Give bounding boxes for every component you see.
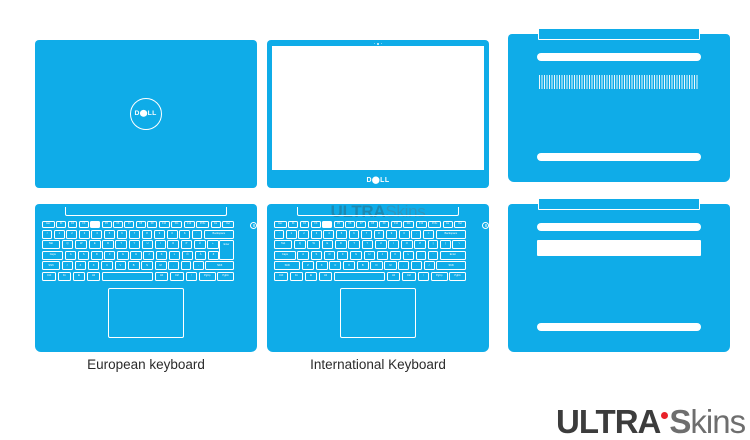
key-6[interactable]: 6 <box>117 230 128 239</box>
key-alt[interactable]: Alt <box>387 272 400 281</box>
key-space[interactable] <box>334 272 386 281</box>
key-c[interactable]: C <box>329 261 341 270</box>
key-1[interactable]: 1 <box>54 230 65 239</box>
key-4[interactable]: 4 <box>91 230 102 239</box>
key-0[interactable]: 0 <box>399 230 410 239</box>
key-a[interactable]: A <box>297 251 309 260</box>
key-tab[interactable]: Tab <box>42 240 60 249</box>
key-f3[interactable]: F3 <box>79 221 89 228</box>
key-ins[interactable]: Ins <box>443 221 453 228</box>
keyboard-row: `1234567890-=Backspace <box>274 230 466 239</box>
top-rubber-strip <box>537 53 701 61</box>
key-enter[interactable]: Enter <box>440 251 466 260</box>
key-8[interactable]: 8 <box>374 230 385 239</box>
screen-display-area <box>272 46 484 170</box>
key-f4[interactable]: F4 <box>322 221 332 228</box>
key-fn[interactable]: Fn <box>290 272 303 281</box>
key-space[interactable]: ↑ <box>186 272 198 281</box>
hinge-cutout <box>538 28 700 40</box>
key-f6[interactable]: F6 <box>113 221 123 228</box>
key-esc[interactable]: Esc <box>274 221 287 228</box>
key-f7[interactable]: F7 <box>356 221 366 228</box>
bottom-rubber-strip <box>537 323 701 331</box>
key-5[interactable]: 5 <box>336 230 347 239</box>
key-space[interactable]: ⊞ <box>73 272 85 281</box>
key-o[interactable]: O <box>401 240 413 249</box>
key-ctrl[interactable]: Ctrl <box>402 272 416 281</box>
product-illustration-stage: D⬤LL D⬤LL EscF1F2F3F4F5F6F7F8F9F10F11F12… <box>0 0 750 430</box>
key-space[interactable]: Ö <box>182 251 194 260</box>
key-h[interactable]: H <box>364 251 376 260</box>
key-f3[interactable]: F3 <box>311 221 321 228</box>
key-f10[interactable]: F10 <box>159 221 170 228</box>
key-f6[interactable]: F6 <box>345 221 355 228</box>
key-f2[interactable]: F2 <box>68 221 78 228</box>
key-v[interactable]: V <box>115 261 127 270</box>
key-t[interactable]: T <box>348 240 360 249</box>
key-ctrl[interactable]: Ctrl <box>170 272 184 281</box>
key-7[interactable]: 7 <box>129 230 140 239</box>
caption-international-keyboard: International Keyboard <box>267 357 489 372</box>
key-caps[interactable]: Caps <box>274 251 296 260</box>
key-u[interactable]: U <box>375 240 387 249</box>
key-space[interactable]: Ä <box>195 251 206 260</box>
keyboard-deck-european-panel[interactable]: EscF1F2F3F4F5F6F7F8F9F10F11F12PrtScInsDe… <box>35 204 257 352</box>
key-f9[interactable]: F9 <box>379 221 389 228</box>
webcam-sensor-icon <box>374 43 375 44</box>
key-space[interactable]: ' <box>428 251 438 260</box>
brand-text-ultra: ULTRA <box>556 403 660 440</box>
key-ctrl[interactable]: Ctrl <box>274 272 288 281</box>
key-y[interactable]: Y <box>129 240 141 249</box>
key-f1[interactable]: F1 <box>56 221 66 228</box>
key-f11[interactable]: F11 <box>171 221 182 228</box>
webcam-sensor-icon <box>381 43 382 44</box>
key-alt[interactable]: Alt <box>319 272 332 281</box>
key-p[interactable]: P <box>414 240 426 249</box>
key-b[interactable]: B <box>357 261 369 270</box>
keyboard-row: CtrlFn⊞AltAltCtrl↑PgUpPgDn <box>274 272 466 281</box>
key-space[interactable]: ` <box>274 230 284 239</box>
key-space[interactable]: [ <box>428 240 439 249</box>
dell-wordmark: D⬤LL <box>366 176 389 184</box>
key-prtsc[interactable]: PrtSc <box>428 221 441 228</box>
key-shift[interactable]: Shift <box>205 261 234 270</box>
key-shift[interactable]: Shift <box>436 261 466 270</box>
key-esc[interactable]: Esc <box>42 221 55 228</box>
key-c[interactable]: C <box>101 261 113 270</box>
key-o[interactable]: O <box>167 240 179 249</box>
key-space[interactable]: \ <box>452 240 466 249</box>
key-shift[interactable]: Shift <box>42 261 60 270</box>
key-x[interactable]: X <box>316 261 328 270</box>
key-ctrl[interactable]: Ctrl <box>42 272 56 281</box>
key-r[interactable]: R <box>335 240 347 249</box>
key-4[interactable]: 4 <box>323 230 334 239</box>
key-j[interactable]: J <box>143 251 154 260</box>
key-f11[interactable]: F11 <box>403 221 414 228</box>
bottom-cover-plain-skin-panel[interactable] <box>508 204 730 352</box>
key-2[interactable]: 2 <box>298 230 309 239</box>
key-q[interactable]: Q <box>62 240 74 249</box>
key-g[interactable]: G <box>117 251 129 260</box>
hinge-cutout <box>538 198 700 210</box>
key-space[interactable]: , <box>398 261 409 270</box>
keyboard-row: CapsASDFGHJKL;'Enter <box>274 251 466 260</box>
key-space[interactable]: / <box>424 261 435 270</box>
key-pgdn[interactable]: PgDn <box>217 272 234 281</box>
key-q[interactable]: Q <box>294 240 306 249</box>
keyboard-european[interactable]: EscF1F2F3F4F5F6F7F8F9F10F11F12PrtScInsDe… <box>42 221 234 281</box>
key-space[interactable]: Ü <box>194 240 206 249</box>
key-space[interactable]: ⊞ <box>305 272 317 281</box>
key-alt[interactable]: Alt <box>87 272 100 281</box>
key-7[interactable]: 7 <box>361 230 372 239</box>
key-enter[interactable]: Enter <box>219 240 234 260</box>
key-z[interactable]: Z <box>75 261 87 270</box>
key-f4[interactable]: F4 <box>90 221 100 228</box>
key-e[interactable]: E <box>89 240 101 249</box>
key-f12[interactable]: F12 <box>184 221 195 228</box>
key-tab[interactable]: Tab <box>274 240 292 249</box>
top-rubber-strip <box>537 223 701 231</box>
key-s[interactable]: S <box>78 251 89 260</box>
key-space[interactable]: < <box>62 261 73 270</box>
key-alt[interactable]: Alt <box>155 272 168 281</box>
keyboard-row: CapsASDFGHJKLÖÄ# <box>42 251 234 260</box>
keyboard-row: TabQWERTYUIOP[]\ <box>274 240 466 249</box>
dell-wordmark: D⬤LL <box>135 111 157 118</box>
key-n[interactable]: N <box>141 261 153 270</box>
service-panel-plate <box>537 240 701 256</box>
key-n[interactable]: N <box>370 261 382 270</box>
touchpad[interactable] <box>108 288 184 338</box>
key-space[interactable]: ] <box>440 240 451 249</box>
key-b[interactable]: B <box>128 261 140 270</box>
key-f12[interactable]: F12 <box>416 221 427 228</box>
key-shift[interactable]: Shift <box>274 261 300 270</box>
ultraskins-brand-logo: ULTRASkins <box>556 405 745 438</box>
brand-text-s: S <box>669 403 690 440</box>
key-1[interactable]: 1 <box>286 230 297 239</box>
keyboard-row: ²1234567890ß´Backspace <box>42 230 234 239</box>
key-e[interactable]: E <box>322 240 334 249</box>
key-9[interactable]: 9 <box>154 230 165 239</box>
brand-dot-icon <box>661 412 668 419</box>
bottom-cover-vented-skin-panel[interactable] <box>508 34 730 182</box>
key-p[interactable]: P <box>181 240 193 249</box>
key-6[interactable]: 6 <box>349 230 360 239</box>
hinge-cutout <box>65 207 227 216</box>
key-f9[interactable]: F9 <box>147 221 157 228</box>
key-8[interactable]: 8 <box>142 230 153 239</box>
key-space[interactable]: - <box>411 230 421 239</box>
key-m[interactable]: M <box>384 261 397 270</box>
key-h[interactable]: H <box>130 251 142 260</box>
key-f[interactable]: F <box>104 251 115 260</box>
key-space[interactable]: . <box>181 261 192 270</box>
key-caps[interactable]: Caps <box>42 251 63 260</box>
vent-grille <box>539 75 699 89</box>
key-t[interactable]: T <box>115 240 126 249</box>
key-3[interactable]: 3 <box>311 230 322 239</box>
key-a[interactable]: A <box>65 251 76 260</box>
key-space[interactable]: ↑ <box>418 272 430 281</box>
key-l[interactable]: L <box>169 251 180 260</box>
webcam-icon <box>372 43 384 45</box>
keyboard-row: CtrlFn⊞AltAltCtrl↑PgUpPgDn <box>42 272 234 281</box>
key-y[interactable]: Y <box>362 240 374 249</box>
key-m[interactable]: M <box>155 261 167 270</box>
key-k[interactable]: K <box>156 251 167 260</box>
key-backspace[interactable]: Backspace <box>204 230 234 239</box>
hinge-cutout <box>297 207 459 216</box>
key-space[interactable]: ² <box>42 230 52 239</box>
key-l[interactable]: L <box>403 251 414 260</box>
keyboard-row: EscF1F2F3F4F5F6F7F8F9F10F11F12PrtScInsDe… <box>42 221 234 228</box>
key-w[interactable]: W <box>307 240 319 249</box>
key-prtsc[interactable]: PrtSc <box>196 221 209 228</box>
screen-chin: D⬤LL <box>267 171 489 188</box>
key-space[interactable]: + <box>207 240 218 249</box>
keyboard-row: Shift<ZXCVBNM,.-Shift <box>42 261 234 270</box>
brand-text-kins: kins <box>690 403 745 440</box>
key-f2[interactable]: F2 <box>300 221 310 228</box>
webcam-lens-icon <box>377 43 379 45</box>
laptop-lid-skin-panel[interactable]: D⬤LL <box>35 40 257 188</box>
key-fn[interactable]: Fn <box>58 272 71 281</box>
key-ins[interactable]: Ins <box>211 221 221 228</box>
key-d[interactable]: D <box>324 251 336 260</box>
key-u[interactable]: U <box>142 240 154 249</box>
key-9[interactable]: 9 <box>386 230 397 239</box>
key-w[interactable]: W <box>75 240 87 249</box>
key-space[interactable]: ´ <box>192 230 202 239</box>
caption-european-keyboard: European keyboard <box>35 357 257 372</box>
key-3[interactable]: 3 <box>79 230 90 239</box>
key-space[interactable] <box>102 272 154 281</box>
dell-logo-badge: D⬤LL <box>130 98 162 130</box>
key-i[interactable]: I <box>155 240 166 249</box>
key-f[interactable]: F <box>337 251 348 260</box>
key-d[interactable]: D <box>91 251 103 260</box>
key-k[interactable]: K <box>390 251 402 260</box>
key-f5[interactable]: F5 <box>102 221 112 228</box>
key-2[interactable]: 2 <box>66 230 77 239</box>
key-del[interactable]: Del <box>454 221 466 228</box>
key-f1[interactable]: F1 <box>288 221 298 228</box>
key-space[interactable]: ; <box>416 251 427 260</box>
key-j[interactable]: J <box>377 251 388 260</box>
key-space[interactable]: # <box>208 251 219 260</box>
key-backspace[interactable]: Backspace <box>436 230 466 239</box>
screen-bezel-skin-panel[interactable]: D⬤LL <box>267 40 489 188</box>
key-space[interactable]: , <box>168 261 179 270</box>
keyboard-row: TabQWERTYUIOPÜ+Enter <box>42 240 234 249</box>
power-button-icon[interactable] <box>482 222 489 229</box>
key-pgup[interactable]: PgUp <box>199 272 216 281</box>
key-pgup[interactable]: PgUp <box>431 272 448 281</box>
key-del[interactable]: Del <box>222 221 234 228</box>
keyboard-deck-international-panel[interactable]: ULTRASkins EscF1F2F3F4F5F6F7F8F9F10F11F1… <box>267 204 489 352</box>
key-pgdn[interactable]: PgDn <box>449 272 466 281</box>
keyboard-international[interactable]: EscF1F2F3F4F5F6F7F8F9F10F11F12PrtScInsDe… <box>274 221 466 281</box>
key-g[interactable]: G <box>350 251 362 260</box>
touchpad[interactable] <box>340 288 416 338</box>
key-f10[interactable]: F10 <box>391 221 402 228</box>
keyboard-row: EscF1F2F3F4F5F6F7F8F9F10F11F12PrtScInsDe… <box>274 221 466 228</box>
key-f8[interactable]: F8 <box>368 221 378 228</box>
key-space[interactable]: - <box>193 261 204 270</box>
key-0[interactable]: 0 <box>167 230 178 239</box>
key-space[interactable]: . <box>411 261 422 270</box>
bottom-rubber-strip <box>537 153 701 161</box>
key-f8[interactable]: F8 <box>136 221 146 228</box>
key-f5[interactable]: F5 <box>334 221 344 228</box>
key-5[interactable]: 5 <box>104 230 115 239</box>
key-i[interactable]: I <box>388 240 399 249</box>
key-v[interactable]: V <box>343 261 355 270</box>
key-x[interactable]: X <box>88 261 100 270</box>
key-z[interactable]: Z <box>302 261 314 270</box>
key-space[interactable]: = <box>423 230 434 239</box>
power-button-icon[interactable] <box>250 222 257 229</box>
keyboard-row: ShiftZXCVBNM,./Shift <box>274 261 466 270</box>
key-s[interactable]: S <box>311 251 323 260</box>
key-f7[interactable]: F7 <box>124 221 134 228</box>
key-r[interactable]: R <box>102 240 114 249</box>
key-space[interactable]: ß <box>179 230 190 239</box>
